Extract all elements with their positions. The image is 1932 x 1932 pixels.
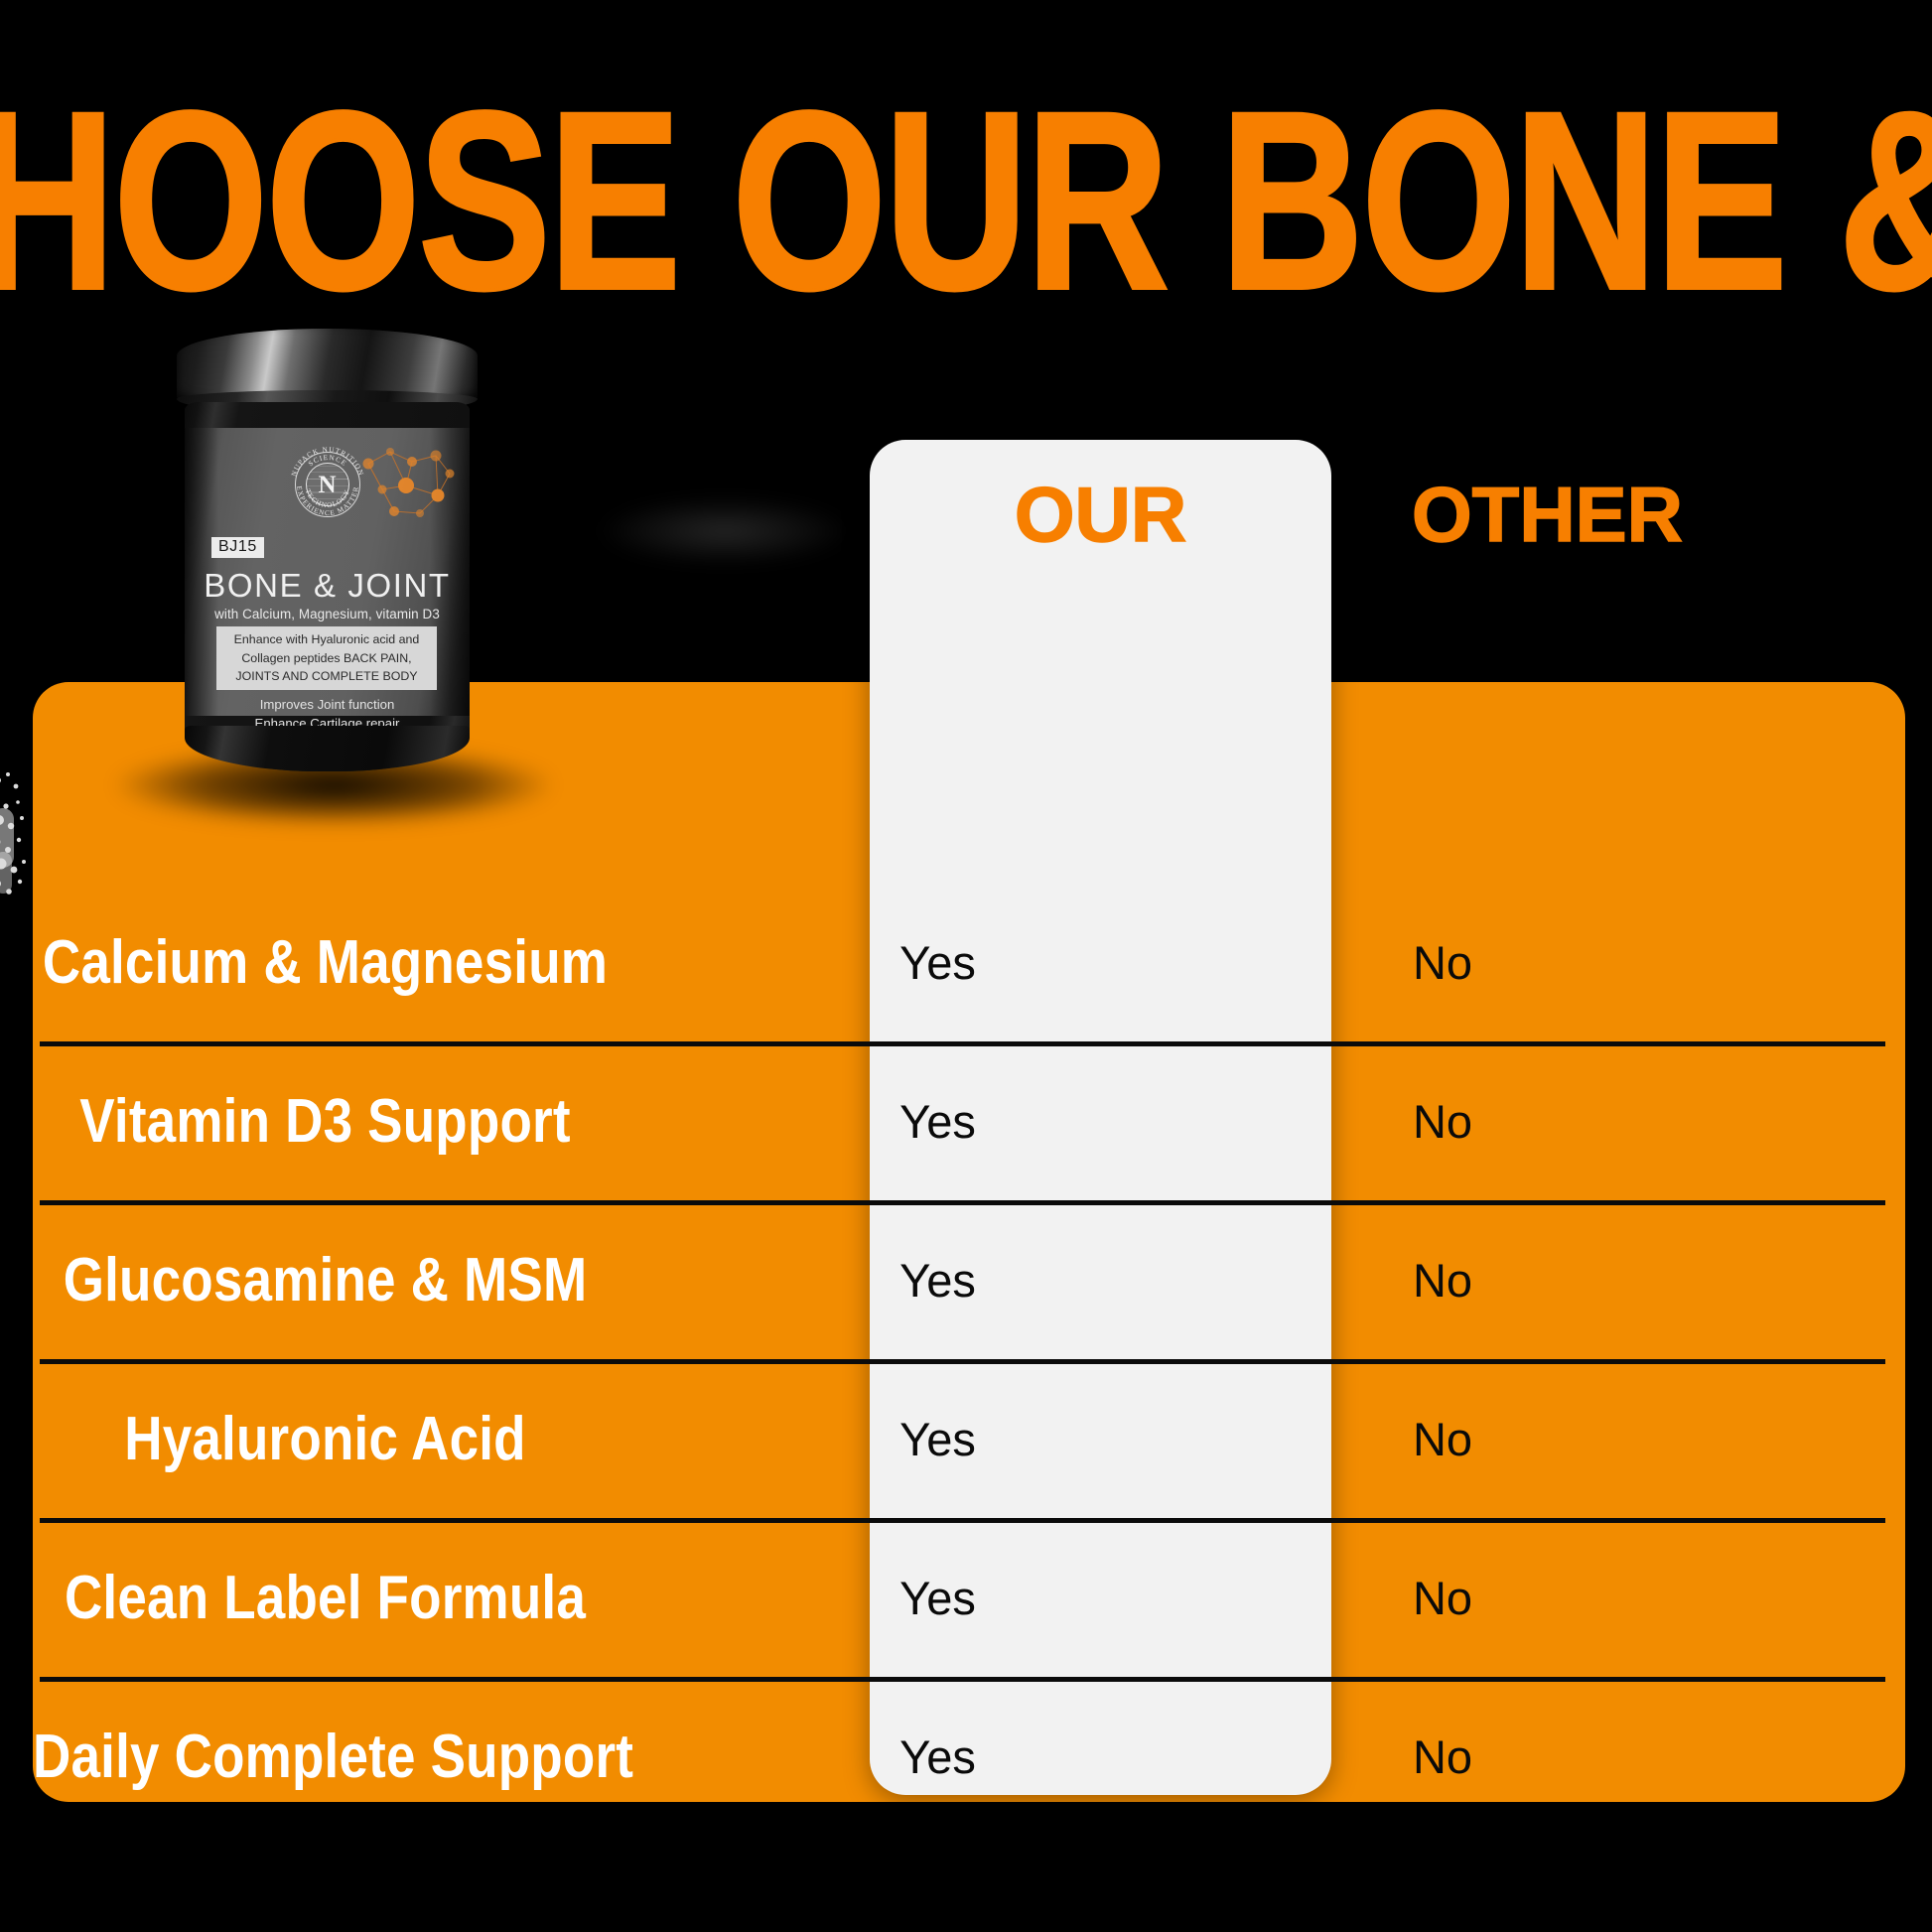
other-value: No	[1169, 1729, 1905, 1784]
feature-label: Hyaluronic Acid	[33, 1403, 707, 1474]
product-claim-box: Enhance with Hyaluronic acid andCollagen…	[216, 626, 437, 690]
product-claim-line: JOINTS AND COMPLETE BODY	[235, 668, 417, 685]
table-row: Daily Complete SupportYesNo	[33, 1677, 1905, 1836]
row-divider	[40, 1677, 1885, 1682]
table-row: Clean Label FormulaYesNo	[33, 1518, 1905, 1677]
our-value: Yes	[707, 1094, 1169, 1149]
feature-label: Calcium & Magnesium	[33, 926, 707, 998]
our-value: Yes	[707, 1729, 1169, 1784]
product-sku-badge: BJ15	[211, 537, 264, 558]
our-column-header: OUR	[870, 476, 1331, 553]
table-row: Glucosamine & MSMYesNo	[33, 1200, 1905, 1359]
other-value: No	[1169, 1571, 1905, 1625]
molecule-icon	[354, 438, 464, 527]
comparison-table-rows: Calcium & MagnesiumYesNoVitamin D3 Suppo…	[33, 682, 1905, 1802]
feature-label: Clean Label Formula	[33, 1562, 707, 1633]
other-column-header-label: OTHER	[1412, 471, 1683, 558]
bottle-label: N NUPACK NUTRITION EXPERIENCE MATTER SCI…	[185, 428, 470, 716]
feature-label: Vitamin D3 Support	[33, 1085, 707, 1157]
background-smudge	[596, 496, 854, 566]
table-row: Calcium & MagnesiumYesNo	[33, 883, 1905, 1041]
page-title-text: WHY CHOOSE OUR BONE & JOINT	[0, 92, 1932, 310]
our-column-header-label: OUR	[1015, 471, 1186, 558]
other-value: No	[1169, 1094, 1905, 1149]
product-subtitle: with Calcium, Magnesium, vitamin D3	[185, 607, 470, 621]
our-value: Yes	[707, 1571, 1169, 1625]
brand-monogram: N	[306, 463, 349, 506]
row-divider	[40, 1359, 1885, 1364]
feature-label: Daily Complete Support	[33, 1721, 707, 1792]
feature-label: Glucosamine & MSM	[33, 1244, 707, 1315]
product-bottle: N NUPACK NUTRITION EXPERIENCE MATTER SCI…	[175, 329, 480, 825]
our-value: Yes	[707, 935, 1169, 990]
product-benefit-line: Improves Joint function	[185, 696, 470, 715]
our-value: Yes	[707, 1412, 1169, 1466]
product-claim-line: Collagen peptides BACK PAIN,	[241, 650, 411, 667]
table-row: Vitamin D3 SupportYesNo	[33, 1041, 1905, 1200]
row-divider	[40, 1518, 1885, 1523]
product-title: BONE & JOINT	[185, 567, 470, 605]
row-divider	[40, 1041, 1885, 1046]
other-value: No	[1169, 1412, 1905, 1466]
other-column-header: OTHER	[1412, 476, 1908, 553]
brand-monogram-letter: N	[318, 473, 336, 497]
other-value: No	[1169, 935, 1905, 990]
our-value: Yes	[707, 1253, 1169, 1308]
bottle-body: N NUPACK NUTRITION EXPERIENCE MATTER SCI…	[185, 402, 470, 771]
table-row: Hyaluronic AcidYesNo	[33, 1359, 1905, 1518]
product-claim-line: Enhance with Hyaluronic acid and	[234, 631, 420, 648]
other-value: No	[1169, 1253, 1905, 1308]
row-divider	[40, 1200, 1885, 1205]
page-title: WHY CHOOSE OUR BONE & JOINT	[0, 117, 1932, 286]
brand-seal-icon: N NUPACK NUTRITION EXPERIENCE MATTER SCI…	[295, 452, 360, 517]
